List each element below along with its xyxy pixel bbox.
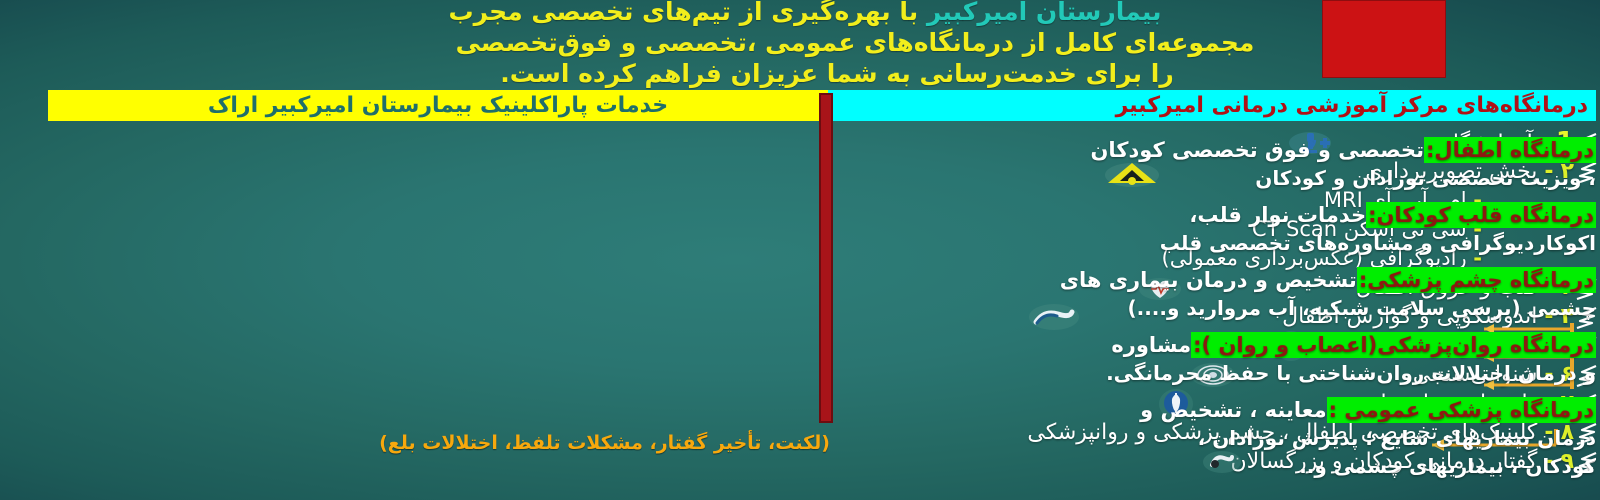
clinic-title: درمانگاه اطفال: — [1424, 137, 1596, 163]
clinic-lead: معاینه ، تشخیص و — [1140, 398, 1327, 422]
clinic-lead: خدمات نوار قلب، — [1189, 203, 1366, 227]
clinic-heading-row: درمانگاه قلب کودکان:خدمات نوار قلب، — [846, 201, 1596, 229]
hospital-name: بیمارستان امیرکبیر — [927, 0, 1162, 26]
header-line-1-rest: با بهره‌گیری از تیم‌های تخصصی مجرب — [449, 0, 927, 26]
header-line-1: بیمارستان امیرکبیر با بهره‌گیری از تیم‌ه… — [270, 0, 1450, 27]
clinic-lead: مشاوره — [1111, 333, 1191, 357]
clinic-lead: تخصصی و فوق تخصصی کودکان — [1090, 138, 1423, 162]
clinic-lead: تشخیص و درمان بیماری های — [1060, 268, 1357, 292]
clinic-detail: ، ویزیت تخصصی نوزادان و کودکان — [846, 164, 1596, 192]
clinic-heading-row: درمانگاه روان‌پزشکی(اعصاب و روان ):مشاور… — [846, 331, 1596, 359]
clinic-heading-row: درمانگاه اطفال:تخصصی و فوق تخصصی کودکان — [846, 136, 1596, 164]
red-accent-box — [1322, 0, 1446, 78]
clinic-title: درمانگاه چشم پزشکی: — [1357, 267, 1596, 293]
clinic-title: درمانگاه قلب کودکان: — [1366, 202, 1596, 228]
clinics-banner-clip: درمانگاه‌های مرکز آموزشی درمانی امیرکبیر — [828, 90, 1600, 121]
paraclinic-banner: خدمات پاراکلینیک بیمارستان امیرکبیر اراک — [48, 90, 828, 121]
header-line-3: را برای خدمت‌رسانی به شما عزیزان فراهم ک… — [270, 58, 1450, 89]
clinic-heading-row: درمانگاه چشم پزشکی:تشخیص و درمان بیماری … — [846, 266, 1596, 294]
speech-therapy-note: (لکنت، تأخیر گفتار، مشکلات تلفظ، اختلالا… — [379, 432, 830, 454]
clinic-block: درمانگاه قلب کودکان:خدمات نوار قلب، اکوک… — [846, 201, 1596, 257]
clinics-banner: درمانگاه‌های مرکز آموزشی درمانی امیرکبیر — [828, 90, 1596, 121]
clinic-block: درمانگاه چشم پزشکی:تشخیص و درمان بیماری … — [846, 266, 1596, 322]
clinic-detail: چشمی (برسی سلامت شبکیه، آب مروارید و....… — [846, 294, 1596, 322]
clinic-title: درمانگاه روان‌پزشکی(اعصاب و روان ): — [1191, 332, 1596, 358]
clinic-detail: و درمان اختلالات روان‌شناختی با حفظ محرم… — [846, 359, 1596, 387]
slide-canvas: بیمارستان امیرکبیر با بهره‌گیری از تیم‌ه… — [0, 0, 1600, 500]
clinic-title: درمانگاه پزشکی عمومی : — [1327, 397, 1596, 423]
header-text-block: بیمارستان امیرکبیر با بهره‌گیری از تیم‌ه… — [270, 0, 1450, 89]
clinic-heading-row: درمانگاه پزشکی عمومی :معاینه ، تشخیص و — [846, 396, 1596, 424]
clinic-detail: اکوکاردیوگرافی و مشاوره‌های تخصصی قلب — [846, 229, 1596, 257]
clinic-block: درمانگاه روان‌پزشکی(اعصاب و روان ):مشاور… — [846, 331, 1596, 387]
clinics-list: درمانگاه اطفال:تخصصی و فوق تخصصی کودکان … — [846, 136, 1596, 489]
clinic-block: درمانگاه پزشکی عمومی :معاینه ، تشخیص و د… — [846, 396, 1596, 480]
header-line-2: مجموعه‌ای کامل از درمانگاه‌های عمومی ،تخ… — [270, 27, 1450, 58]
clinic-block: درمانگاه اطفال:تخصصی و فوق تخصصی کودکان … — [846, 136, 1596, 192]
clinic-detail: درمان بیماریهای شایع ؛ پذیرش نوزادان ، — [846, 424, 1596, 452]
clinic-detail: کودکان ، بیماریهای چشمی و.. — [846, 452, 1596, 480]
